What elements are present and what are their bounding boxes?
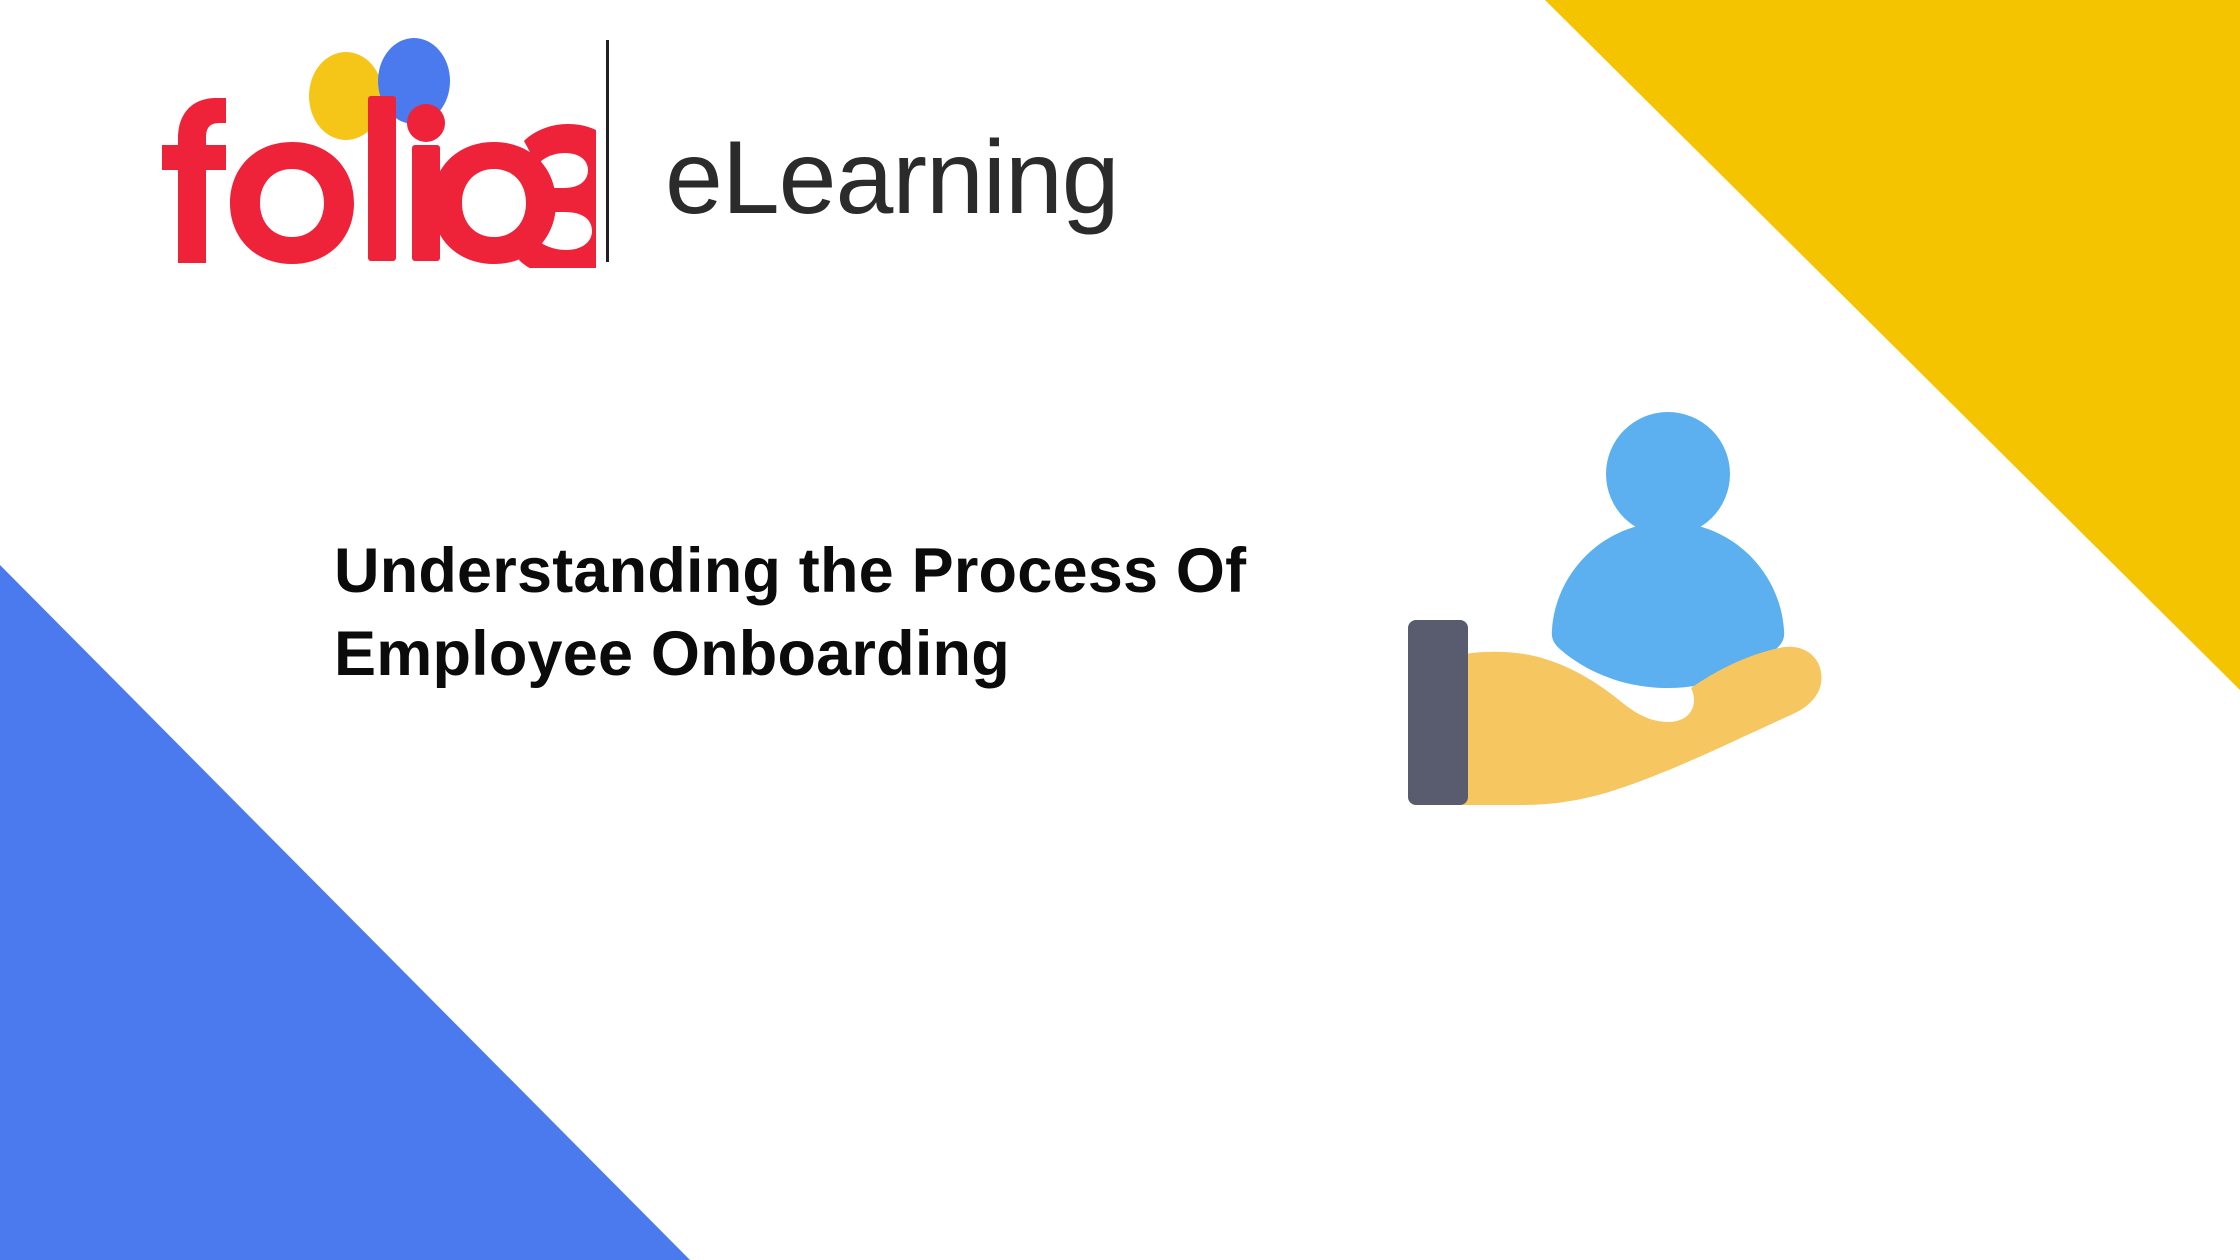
folio3-logo-mark (96, 38, 596, 268)
hand-holding-user-illustration (1392, 398, 1824, 838)
presentation-slide: eLearning Understanding the Process Of E… (0, 0, 2240, 1260)
logo-divider (606, 40, 609, 262)
folio3-logotype-icon (96, 38, 596, 268)
brand-logo[interactable]: eLearning (96, 38, 1119, 268)
logo-sub-brand-label: eLearning (665, 126, 1119, 230)
folio3-wordmark-icon (162, 96, 596, 268)
user-head-icon (1606, 412, 1730, 536)
hand-user-icon (1392, 398, 1824, 838)
sleeve-cuff-icon (1408, 620, 1468, 805)
page-title: Understanding the Process Of Employee On… (334, 530, 1444, 696)
